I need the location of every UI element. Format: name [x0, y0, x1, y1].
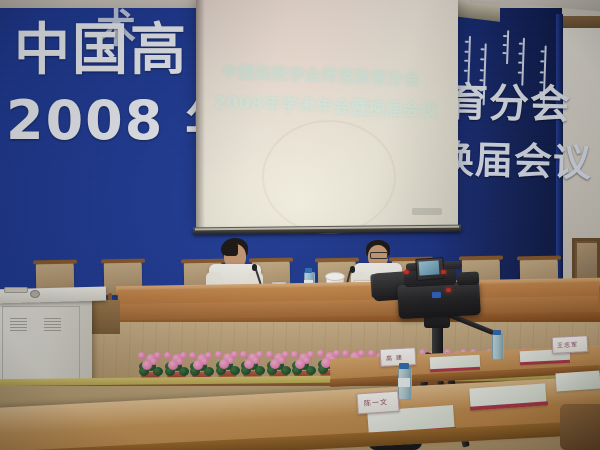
mongolian-tick — [481, 48, 485, 50]
flower-bloom — [164, 352, 171, 359]
bottle-cap — [493, 330, 501, 335]
photo-canvas: 术 中国高 2008 年 育分会 换届会议 中国高教学会师范教育分会 2008年… — [0, 0, 600, 450]
mongolian-tick — [465, 41, 469, 43]
name-tent-card-text: 高 建 — [386, 353, 403, 363]
mongolian-tick — [464, 60, 468, 62]
camera-lens-badge — [432, 292, 441, 298]
lectern-knob — [30, 290, 40, 298]
chair-frame — [33, 260, 77, 265]
mongolian-tick — [540, 50, 544, 52]
mongolian-script — [441, 24, 564, 106]
flower-bloom — [291, 351, 298, 358]
mongolian-tick — [502, 52, 506, 54]
microphone-head — [252, 264, 257, 271]
mongolian-tick — [518, 52, 522, 54]
mongolian-tick — [479, 79, 483, 81]
mongolian-tick — [519, 43, 523, 45]
glasses-icon — [370, 252, 388, 259]
banner-left-line-1: 中国高 — [14, 22, 188, 80]
mongolian-tick — [518, 62, 522, 64]
flower-leaves — [204, 367, 214, 376]
mongolian-tick — [480, 69, 484, 71]
flower-bloom — [138, 352, 145, 359]
mongolian-tick — [539, 81, 543, 83]
notepad — [555, 370, 600, 391]
flower-leaves — [153, 367, 163, 376]
banner-right-line-2: 换届会议 — [435, 138, 592, 184]
screen-left-shadow — [196, 0, 205, 228]
flower-bloom — [368, 350, 375, 357]
flower-leaves — [230, 366, 240, 375]
mongolian-tick — [464, 69, 468, 71]
flower-bloom — [342, 350, 349, 357]
mongolian-tick — [464, 50, 468, 52]
lectern-vent — [44, 318, 61, 331]
name-tent-card-text: 王志军 — [557, 339, 578, 349]
camera-tally-light — [404, 270, 409, 274]
mongolian-tick — [518, 71, 522, 73]
mongolian-stroke — [543, 45, 547, 107]
flower-bloom — [317, 350, 324, 357]
flower-bloom — [150, 358, 157, 365]
bottle-cap — [399, 363, 409, 369]
camera-tally-light — [446, 288, 451, 292]
flower-leaves — [306, 366, 316, 375]
flower-bloom — [215, 351, 222, 358]
flower-leaves — [281, 366, 291, 375]
flower-bloom — [303, 357, 310, 364]
flower-bloom — [266, 351, 273, 358]
name-tent-card-text: 陈一文 — [364, 397, 389, 409]
flower-leaves — [179, 367, 189, 376]
flower-bloom — [227, 357, 234, 364]
flower-bloom — [240, 351, 247, 358]
tea-cup-lid — [325, 272, 345, 281]
foreground-chair — [560, 404, 600, 450]
lectern-vent — [10, 318, 27, 331]
chair-frame — [315, 257, 359, 262]
flower-bloom — [176, 358, 183, 365]
chair-frame — [181, 258, 225, 263]
flower-leaves — [255, 366, 265, 375]
camera-viewfinder — [457, 271, 480, 285]
bottle-cap — [305, 268, 312, 273]
chair-frame — [517, 255, 561, 260]
mongolian-tick — [503, 44, 507, 46]
lectern-handle — [4, 287, 28, 293]
screen-corner-logo — [412, 208, 442, 215]
flower-bloom — [201, 358, 208, 365]
mongolian-tick — [503, 35, 507, 37]
microphone-head — [350, 266, 355, 273]
bottle-label — [398, 378, 410, 387]
flower-bloom — [252, 357, 259, 364]
camera-lcd-screen — [419, 260, 440, 275]
screen-vignette — [196, 0, 458, 228]
hair-front — [221, 240, 238, 256]
flower-bloom — [189, 352, 196, 359]
flower-bloom — [278, 357, 285, 364]
mongolian-stroke — [483, 43, 487, 105]
water-bottle — [492, 334, 504, 360]
camera-tally-light — [441, 270, 446, 274]
mongolian-tick — [540, 71, 544, 73]
